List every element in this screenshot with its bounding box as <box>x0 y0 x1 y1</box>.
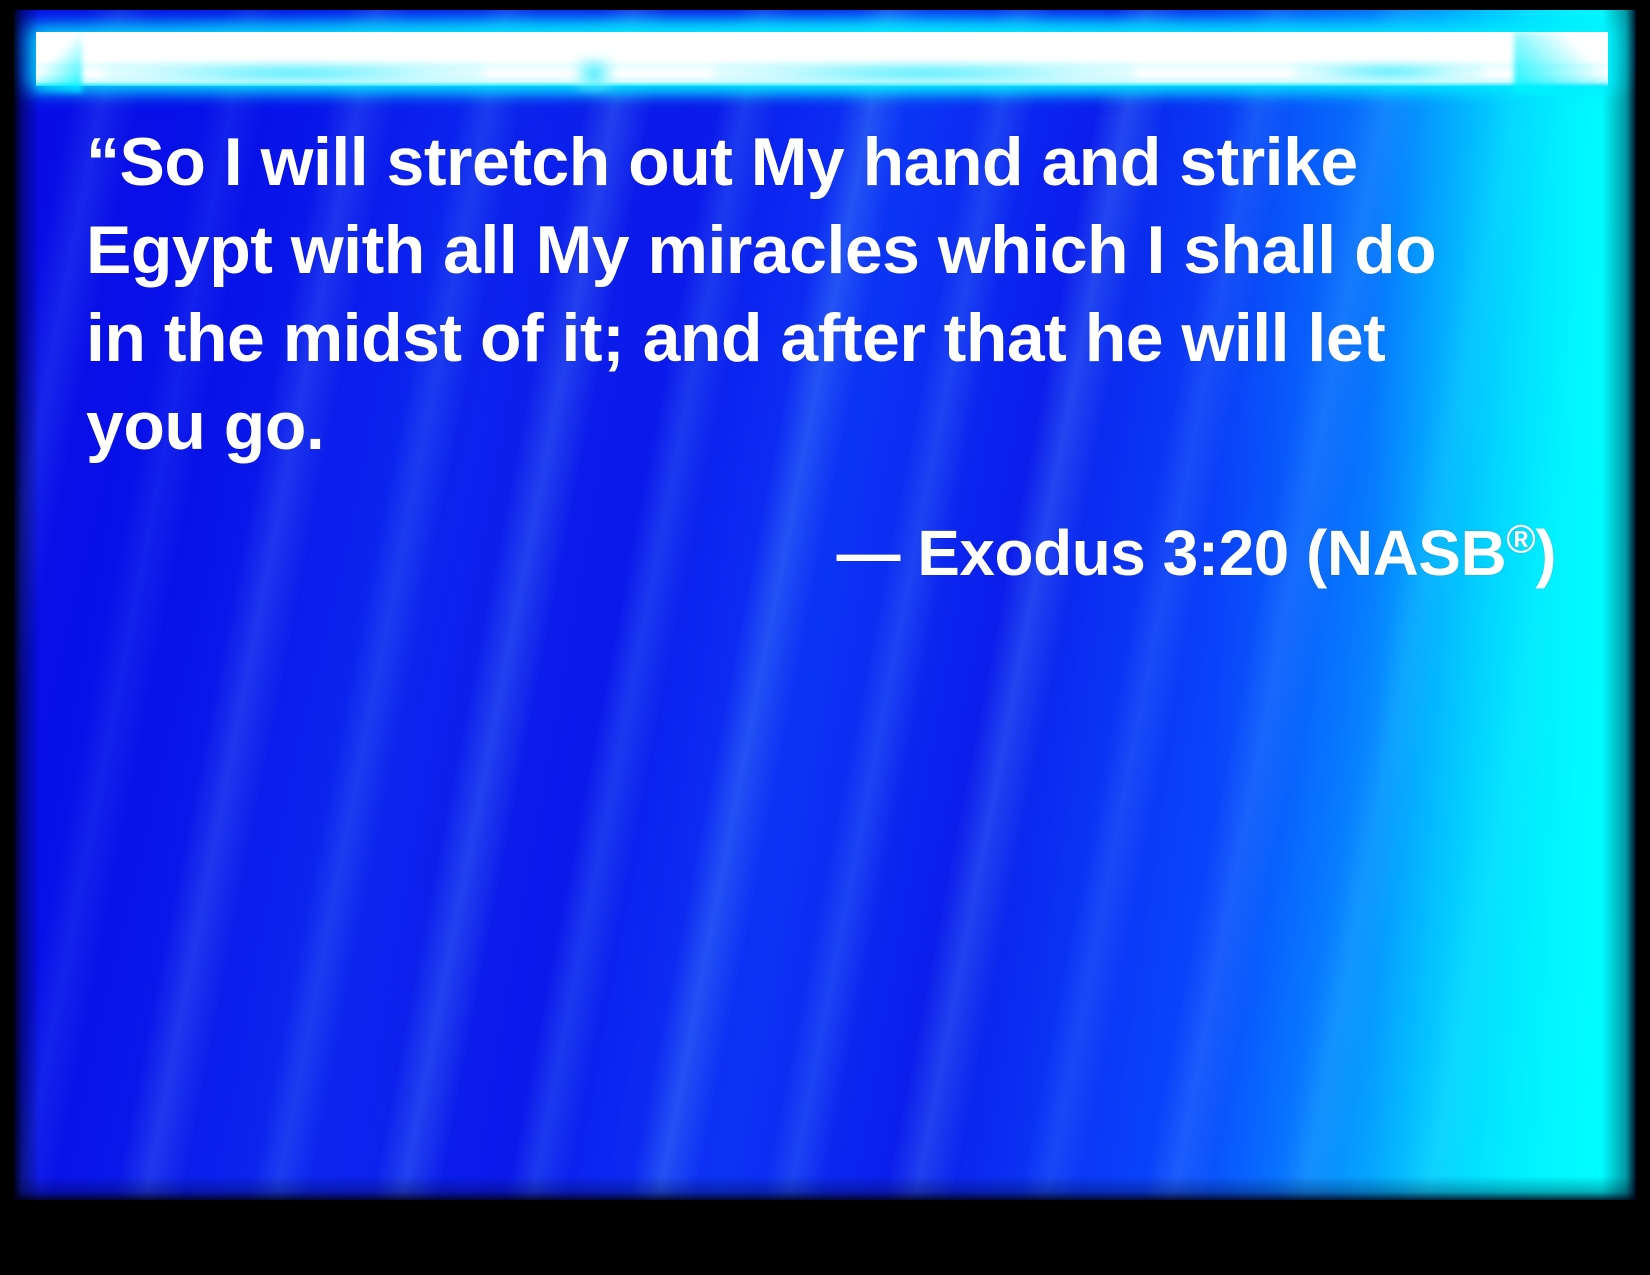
verse-attribution: — Exodus 3:20 (NASB®) <box>86 514 1566 592</box>
attribution-paren-close: ) <box>1535 517 1556 589</box>
attribution-dash: — <box>836 517 900 589</box>
verse-line-2: Egypt with all My miracles which I shall… <box>86 206 1566 294</box>
verse-content: “So I will stretch out My hand and strik… <box>86 118 1566 592</box>
attribution-space <box>900 517 917 589</box>
verse-line-4: you go. <box>86 382 1566 470</box>
slide-background: “So I will stretch out My hand and strik… <box>14 10 1636 1200</box>
attribution-space-2 <box>1289 517 1306 589</box>
slide-canvas: “So I will stretch out My hand and strik… <box>0 0 1650 1275</box>
verse-line-1: “So I will stretch out My hand and strik… <box>86 118 1566 206</box>
attribution-reference: Exodus 3:20 <box>917 517 1289 589</box>
attribution-translation: (NASB <box>1306 517 1506 589</box>
verse-line-3: in the midst of it; and after that he wi… <box>86 294 1566 382</box>
registered-trademark-icon: ® <box>1506 518 1535 562</box>
